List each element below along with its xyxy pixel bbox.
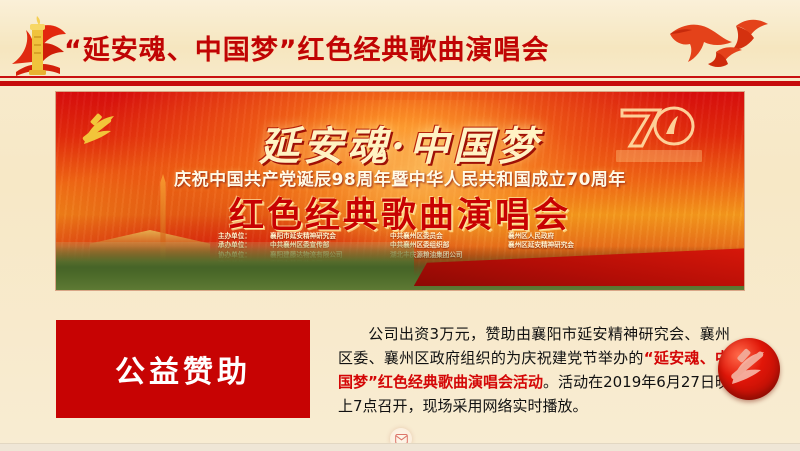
- description-text: 公司出资3万元，赞助由襄阳市延安精神研究会、襄州区委、襄州区政府组织的为庆祝建党…: [338, 322, 730, 418]
- page-title: “延安魂、中国梦”红色经典歌曲演唱会: [64, 28, 550, 67]
- header-divider-thick: [0, 81, 800, 86]
- page-root: “延安魂、中国梦”红色经典歌曲演唱会: [0, 0, 800, 451]
- credit-org: 襄阳市延安精神研究会: [270, 232, 390, 241]
- banner-second-title: 红色经典歌曲演唱会: [56, 187, 744, 238]
- hammer-sickle-badge-icon: [718, 338, 780, 400]
- event-banner: 延安魂·中国梦 庆祝中国共产党诞辰98周年暨中华人民共和国成立70周年 红色经典…: [56, 92, 744, 290]
- credit-org: 中共襄州区委员会: [390, 232, 508, 241]
- flying-doves-icon: [662, 6, 782, 74]
- credit-org: 襄州区人民政府: [508, 232, 618, 241]
- page-footer-bar: [0, 443, 800, 451]
- credit-row: 主办单位： 襄阳市延安精神研究会 中共襄州区委员会 襄州区人民政府: [218, 232, 618, 241]
- torch-ribbon-icon: [6, 12, 70, 78]
- header-divider-thin: [0, 76, 800, 78]
- banner-main-title: 延安魂·中国梦: [56, 114, 744, 172]
- credit-label: 主办单位：: [218, 232, 270, 241]
- sponsorship-label: 公益赞助: [115, 347, 251, 391]
- page-header: “延安魂、中国梦”红色经典歌曲演唱会: [0, 0, 800, 88]
- sponsorship-box: 公益赞助: [56, 320, 310, 418]
